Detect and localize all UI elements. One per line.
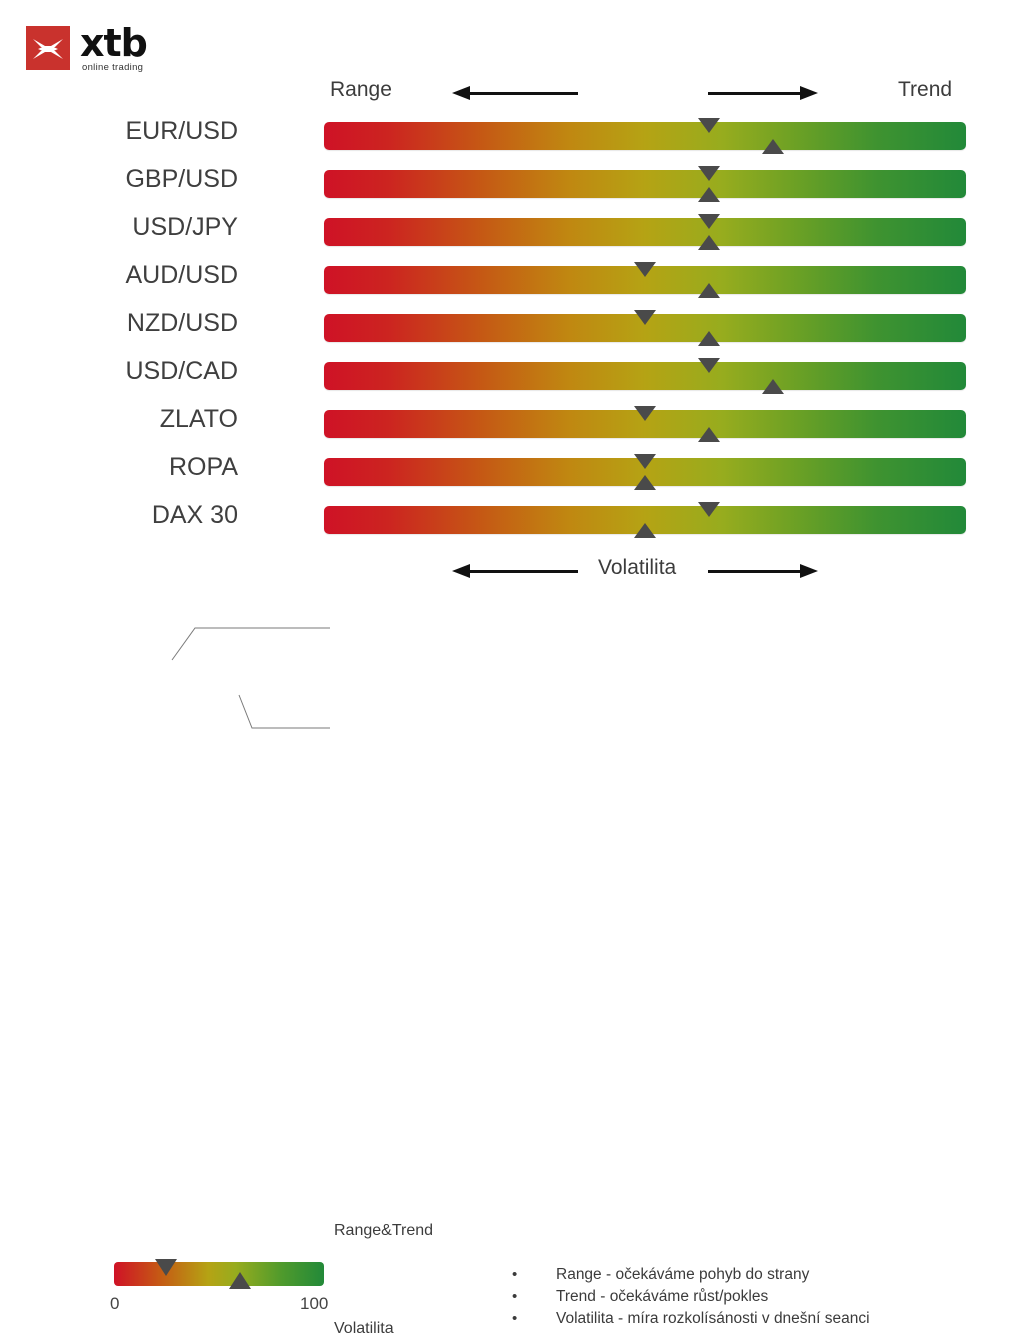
chart-footer-axis: Volatilita (0, 556, 1024, 586)
bullet-dot-icon: • (512, 1286, 556, 1308)
volatility-marker-icon (634, 475, 656, 490)
instrument-label: USD/JPY (132, 213, 238, 242)
bullet-text: Volatilita - míra rozkolísánosti v dnešn… (556, 1308, 870, 1330)
legend-callout-volatilita: Volatilita (334, 1320, 394, 1338)
volatility-marker-icon (762, 139, 784, 154)
gradient-bar (324, 266, 966, 294)
instrument-label: USD/CAD (125, 357, 238, 386)
range-trend-marker-icon (634, 262, 656, 277)
table-row: ZLATO (0, 410, 1024, 438)
table-row: EUR/USD (0, 122, 1024, 150)
volatility-marker-icon (698, 187, 720, 202)
range-trend-marker-icon (698, 118, 720, 133)
gradient-bar (324, 314, 966, 342)
legend-leader-top (172, 628, 330, 660)
table-row: ROPA (0, 458, 1024, 486)
range-trend-marker-icon (698, 166, 720, 181)
gradient-bar (324, 122, 966, 150)
bullet-text: Trend - očekáváme růst/pokles (556, 1286, 768, 1308)
list-item: •Trend - očekáváme růst/pokles (512, 1286, 870, 1308)
arrow-right-shaft (708, 570, 803, 573)
legend-volatility-marker-icon (229, 1272, 251, 1289)
list-item: •Volatilita - míra rozkolísánosti v dneš… (512, 1308, 870, 1330)
table-row: USD/CAD (0, 362, 1024, 390)
arrow-left-shaft (467, 570, 578, 573)
gradient-bar (324, 410, 966, 438)
instrument-label: ROPA (169, 453, 238, 482)
range-trend-marker-icon (634, 406, 656, 421)
bullet-dot-icon: • (512, 1264, 556, 1286)
chart-legend: 0 100 Range&Trend Volatilita •Range - oč… (0, 600, 1024, 768)
legend-leader-bottom (239, 695, 330, 728)
legend-callout-range-trend: Range&Trend (334, 1222, 433, 1240)
legend-scale-min: 0 (110, 1294, 119, 1314)
volatility-marker-icon (762, 379, 784, 394)
instrument-label: ZLATO (160, 405, 238, 434)
axis-label-volatilita: Volatilita (598, 556, 676, 580)
gradient-bar (324, 218, 966, 246)
volatility-arrow-right-icon (708, 564, 818, 578)
table-row: DAX 30 (0, 506, 1024, 534)
volatility-marker-icon (634, 523, 656, 538)
volatility-marker-icon (698, 235, 720, 250)
range-trend-marker-icon (634, 310, 656, 325)
gradient-bar (324, 506, 966, 534)
table-row: NZD/USD (0, 314, 1024, 342)
instrument-label: GBP/USD (125, 165, 238, 194)
table-row: USD/JPY (0, 218, 1024, 246)
instrument-label: EUR/USD (125, 117, 238, 146)
list-item: •Range - očekáváme pohyb do strany (512, 1264, 870, 1286)
table-row: AUD/USD (0, 266, 1024, 294)
bullet-dot-icon: • (512, 1308, 556, 1330)
legend-range-trend-marker-icon (155, 1259, 177, 1276)
table-row: GBP/USD (0, 170, 1024, 198)
range-trend-marker-icon (698, 358, 720, 373)
volatility-marker-icon (698, 331, 720, 346)
gradient-bar (324, 362, 966, 390)
instrument-label: AUD/USD (125, 261, 238, 290)
instrument-label: DAX 30 (152, 501, 238, 530)
legend-bullet-list: •Range - očekáváme pohyb do strany•Trend… (512, 1264, 870, 1330)
volatility-arrow-left-icon (452, 564, 578, 578)
range-trend-marker-icon (698, 502, 720, 517)
range-trend-marker-icon (634, 454, 656, 469)
legend-gradient-bar (114, 1262, 324, 1286)
volatility-marker-icon (698, 283, 720, 298)
volatility-marker-icon (698, 427, 720, 442)
instrument-label: NZD/USD (127, 309, 238, 338)
legend-scale-max: 100 (300, 1294, 328, 1314)
arrow-right-head-icon (800, 564, 818, 578)
gradient-bar (324, 170, 966, 198)
gradient-bar (324, 458, 966, 486)
range-trend-marker-icon (698, 214, 720, 229)
bullet-text: Range - očekáváme pohyb do strany (556, 1264, 809, 1286)
